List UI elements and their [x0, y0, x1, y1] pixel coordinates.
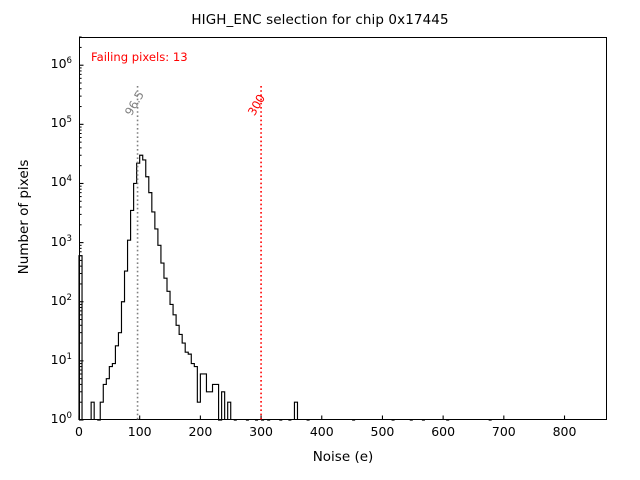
- y-tick-label: 102: [26, 293, 72, 308]
- y-tick-label: 105: [26, 115, 72, 130]
- x-tick-label: 600: [413, 424, 473, 439]
- x-tick-label: 100: [110, 424, 170, 439]
- y-tick-label: 100: [26, 411, 72, 426]
- histogram-figure: HIGH_ENC selection for chip 0x17445 Numb…: [0, 0, 640, 480]
- histogram-series: [79, 155, 492, 420]
- y-tick-label: 106: [26, 56, 72, 71]
- y-tick-label: 101: [26, 352, 72, 367]
- axis-ticks: [79, 37, 565, 420]
- x-tick-label: 400: [292, 424, 352, 439]
- y-tick-label: 104: [26, 174, 72, 189]
- x-tick-label: 200: [170, 424, 230, 439]
- failing-pixels-annotation: Failing pixels: 13: [91, 50, 188, 64]
- x-tick-label: 800: [535, 424, 595, 439]
- x-tick-label: 700: [474, 424, 534, 439]
- x-axis-label: Noise (e): [79, 449, 607, 465]
- vertical-marker-lines: [138, 86, 262, 420]
- x-tick-label: 0: [49, 424, 109, 439]
- histogram-plot-area: [0, 0, 640, 480]
- y-tick-label: 103: [26, 234, 72, 249]
- x-tick-label: 300: [231, 424, 291, 439]
- x-tick-label: 500: [352, 424, 412, 439]
